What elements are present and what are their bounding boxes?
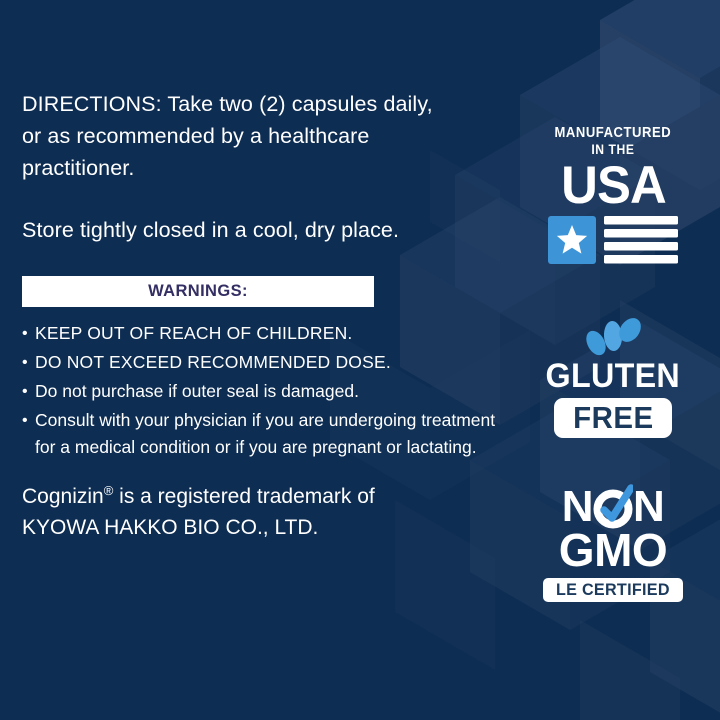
registered-trademark-icon: ® <box>104 483 114 498</box>
warning-list-item: • KEEP OUT OF REACH OF CHILDREN. <box>22 320 504 347</box>
trademark-notice: Cognizin® is a registered trademark of K… <box>22 481 504 543</box>
warnings-header-box: WARNINGS: <box>22 276 374 307</box>
gmo-word: GMO <box>559 527 667 574</box>
wheat-leaves-icon <box>582 316 644 356</box>
warning-list-item: • Consult with your physician if you are… <box>22 407 504 461</box>
warning-text: KEEP OUT OF REACH OF CHILDREN. <box>35 320 504 347</box>
non-letter-o-with-check <box>593 484 633 530</box>
certification-badge-column: MANUFACTURED IN THE USA GLUTEN <box>520 125 706 602</box>
warning-text: Do not purchase if outer seal is damaged… <box>35 378 504 405</box>
bullet-icon: • <box>22 378 35 405</box>
warning-text: DO NOT EXCEED RECOMMENDED DOSE. <box>35 349 504 376</box>
free-word: FREE <box>573 401 653 434</box>
directions-line-2: or as recommended by a healthcare <box>22 120 504 152</box>
warning-list-item: • Do not purchase if outer seal is damag… <box>22 378 504 405</box>
non-gmo-badge: N N GMO LE CERTIFIED <box>520 484 706 602</box>
trademark-line-1: Cognizin® is a registered trademark of <box>22 481 504 512</box>
warnings-list: • KEEP OUT OF REACH OF CHILDREN. • DO NO… <box>22 320 504 461</box>
label-text-column: DIRECTIONS: Take two (2) capsules daily,… <box>22 88 504 543</box>
certified-text: LE CERTIFIED <box>556 580 670 599</box>
directions-line-1: DIRECTIONS: Take two (2) capsules daily, <box>22 88 504 120</box>
warning-list-item: • DO NOT EXCEED RECOMMENDED DOSE. <box>22 349 504 376</box>
free-word-box: FREE <box>554 398 673 438</box>
directions-block: DIRECTIONS: Take two (2) capsules daily,… <box>22 88 504 184</box>
warning-text: Consult with your physician if you are u… <box>35 407 504 461</box>
trademark-middle-text: is a registered trademark of <box>113 485 374 508</box>
usa-badge-line-2: IN THE <box>591 142 634 157</box>
non-word-row: N N <box>562 484 665 530</box>
trademark-company: KYOWA HAKKO BIO CO., LTD. <box>22 512 504 543</box>
us-flag-icon <box>548 216 678 264</box>
bullet-icon: • <box>22 320 35 347</box>
manufactured-in-usa-badge: MANUFACTURED IN THE USA <box>520 125 706 264</box>
certified-box: LE CERTIFIED <box>543 578 683 602</box>
directions-line-3: practitioner. <box>22 152 504 184</box>
storage-instructions: Store tightly closed in a cool, dry plac… <box>22 214 504 246</box>
brand-name: Cognizin <box>22 485 104 508</box>
gluten-free-badge: GLUTEN FREE <box>520 316 706 438</box>
check-mark-icon <box>593 483 633 533</box>
non-letter-n-left: N <box>562 484 593 530</box>
bullet-icon: • <box>22 407 35 461</box>
usa-badge-word: USA <box>561 159 666 212</box>
non-letter-n-right: N <box>633 484 664 530</box>
gluten-word: GLUTEN <box>546 358 680 394</box>
usa-badge-line-1: MANUFACTURED <box>555 125 672 141</box>
warnings-title: WARNINGS: <box>148 282 248 301</box>
supplement-label-panel: DIRECTIONS: Take two (2) capsules daily,… <box>0 0 720 720</box>
bullet-icon: • <box>22 349 35 376</box>
